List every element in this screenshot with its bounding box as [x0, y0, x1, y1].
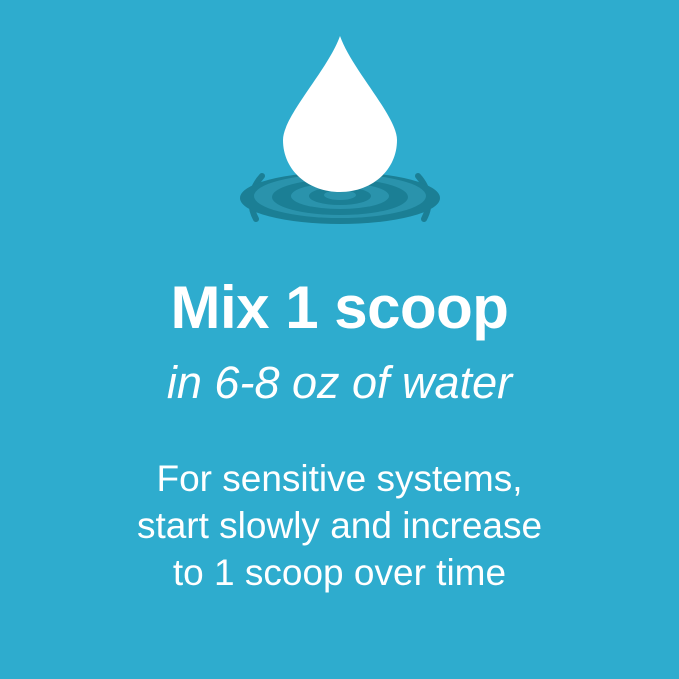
body-line: start slowly and increase — [0, 502, 679, 549]
instruction-card: Mix 1 scoop in 6-8 oz of water For sensi… — [0, 0, 679, 679]
body-line: to 1 scoop over time — [0, 549, 679, 596]
droplet-illustration — [0, 0, 679, 250]
droplet-shape — [283, 36, 397, 192]
instruction-text-block: Mix 1 scoop in 6-8 oz of water For sensi… — [0, 252, 679, 596]
subtitle: in 6-8 oz of water — [0, 338, 679, 405]
body-line: For sensitive systems, — [0, 455, 679, 502]
page-title: Mix 1 scoop — [0, 252, 679, 338]
body-copy: For sensitive systems, start slowly and … — [0, 405, 679, 596]
